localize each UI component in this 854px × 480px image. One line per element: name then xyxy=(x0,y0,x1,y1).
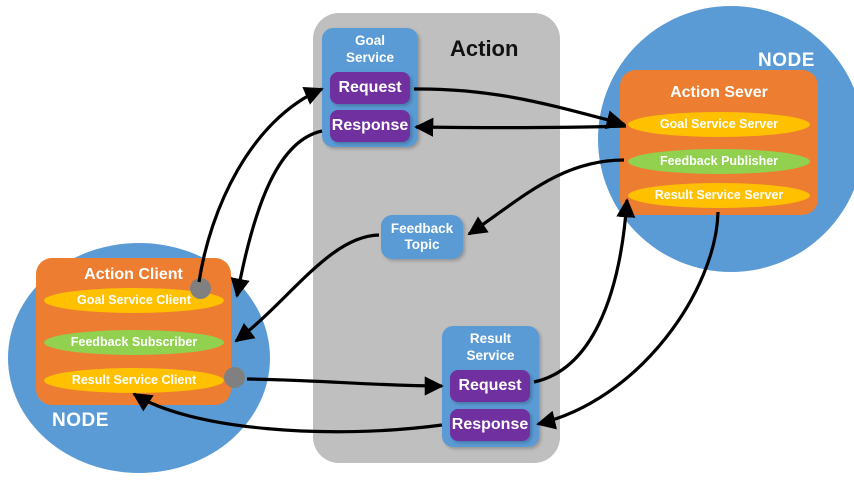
arrow-client-goal-to-request xyxy=(199,89,322,282)
result-service-title-line2: Service xyxy=(442,348,539,364)
feedback-topic-label-line2: Topic xyxy=(391,237,453,253)
feedback-publisher-pill[interactable]: Feedback Publisher xyxy=(628,149,810,174)
result-service-title-line1: Result xyxy=(442,331,539,347)
goal-service-title-line1: Goal xyxy=(322,33,418,49)
goal-service-title-line2: Service xyxy=(322,50,418,66)
action-title: Action xyxy=(450,36,570,62)
feedback-subscriber-pill[interactable]: Feedback Subscriber xyxy=(44,330,224,355)
action-server-panel-title: Action Sever xyxy=(620,84,818,102)
result-service-request-box[interactable]: Request xyxy=(450,370,530,402)
result-service-client-pill[interactable]: Result Service Client xyxy=(44,368,224,393)
action-client-node-label: NODE xyxy=(52,410,109,432)
result-service-server-pill[interactable]: Result Service Server xyxy=(628,183,810,208)
feedback-topic-label-line1: Feedback xyxy=(391,221,453,237)
client-goal-connector-dot xyxy=(190,278,211,299)
client-result-connector-dot xyxy=(224,367,245,388)
feedback-topic-box[interactable]: Feedback Topic xyxy=(381,215,463,259)
action-server-node-label: NODE xyxy=(758,50,815,72)
goal-service-request-box[interactable]: Request xyxy=(330,72,410,104)
arrow-goal-response-to-client xyxy=(237,131,322,296)
diagram-canvas: Action Goal Service Request Response Fee… xyxy=(0,0,854,480)
goal-service-server-pill[interactable]: Goal Service Server xyxy=(628,112,810,137)
result-service-response-box[interactable]: Response xyxy=(450,409,530,441)
goal-service-response-box[interactable]: Response xyxy=(330,110,410,142)
